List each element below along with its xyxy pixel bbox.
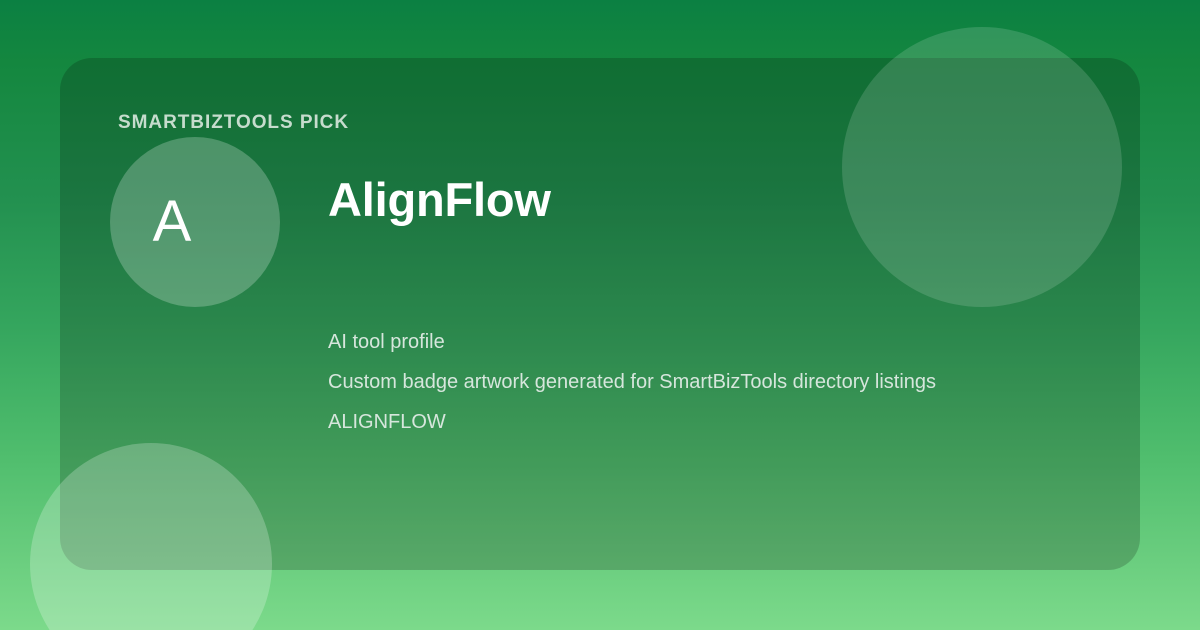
meta-line-slug: ALIGNFLOW xyxy=(328,402,1108,442)
eyebrow-label: SMARTBIZTOOLS PICK xyxy=(118,112,349,134)
meta-list: AI tool profile Custom badge artwork gen… xyxy=(328,322,1108,442)
meta-line-category: AI tool profile xyxy=(328,322,1108,362)
meta-line-description: Custom badge artwork generated for Smart… xyxy=(328,362,1108,402)
avatar-initial: A xyxy=(110,137,234,307)
badge-content: SMARTBIZTOOLS PICK A AlignFlow AI tool p… xyxy=(0,0,1200,630)
page-title: AlignFlow xyxy=(328,172,551,227)
avatar: A xyxy=(110,137,280,307)
badge-canvas: SMARTBIZTOOLS PICK A AlignFlow AI tool p… xyxy=(0,0,1200,630)
